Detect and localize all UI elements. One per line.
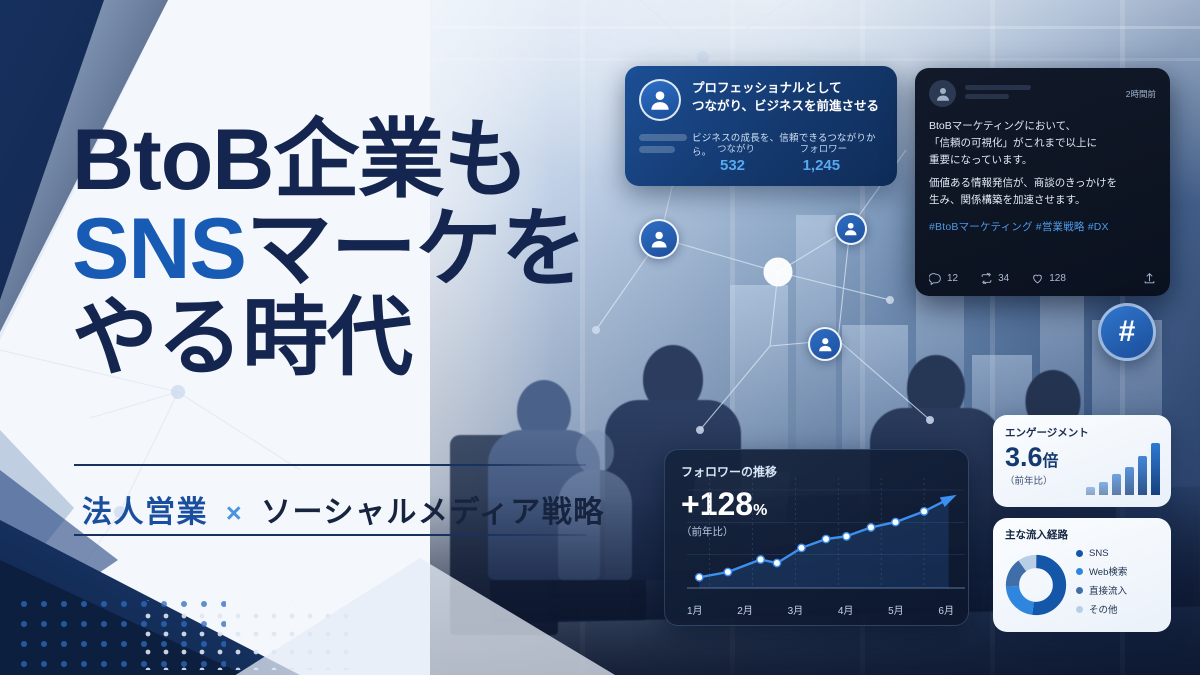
like-count: 128 [1049,273,1066,284]
headline-line-1: BtoB企業も [72,112,528,208]
comment-action[interactable]: 12 [929,272,958,285]
stat-value: 1,245 [803,157,841,174]
legend-item: Web検索 [1076,564,1127,578]
x-tick: 2月 [737,602,753,617]
ceiling-line [430,58,1200,61]
donut-chart [1005,554,1067,616]
comment-icon [929,272,942,285]
page-title: BtoB企業も SNSマーケを やる時代 [72,118,632,381]
legend-swatch [1076,550,1083,557]
share-action[interactable] [1143,272,1156,285]
post-body-paragraph-1: BtoBマーケティングにおいて、 「信頼の可視化」がこれまで以上に 重要になって… [929,118,1156,169]
legend-label: 直接流入 [1089,583,1127,597]
x-tick: 6月 [938,602,954,617]
legend-swatch [1076,587,1083,594]
stat-label: つながり [717,144,755,155]
heart-icon [1031,272,1044,285]
bar-chart [1086,437,1160,495]
bar [1138,456,1147,495]
hashtag-glyph: # [1119,317,1136,347]
donut-legend: SNSWeb検索直接流入その他 [1076,548,1127,621]
card-headline-line-2: つながり、ビジネスを前進させる [692,97,879,115]
like-action[interactable]: 128 [1031,272,1066,285]
subtitle-right: ソーシャルメディア戦略 [261,496,605,529]
stat-connections: つながり532 [717,139,780,175]
x-axis-labels: 1月2月3月4月5月6月 [687,602,954,617]
post-hashtags[interactable]: #BtoBマーケティング #営業戦略 #DX [929,219,1156,234]
legend-label: その他 [1089,602,1118,616]
headline-line-2: マーケを [246,201,586,297]
card-headline-line-1: プロフェッショナルとして [692,79,879,97]
repost-action[interactable]: 34 [980,272,1009,285]
headline-line-3: やる時代 [72,290,412,386]
share-icon [1143,272,1156,285]
ceiling-line [430,26,1200,29]
professional-network-card[interactable]: プロフェッショナルとして つながり、ビジネスを前進させる ビジネスの成長を、信頼… [625,66,897,186]
social-post-card[interactable]: 2時間前 BtoBマーケティングにおいて、 「信頼の可視化」がこれまで以上に 重… [915,68,1170,296]
legend-label: Web検索 [1089,564,1127,578]
stat-value: 532 [720,157,745,174]
legend-swatch [1076,606,1083,613]
post-timestamp: 2時間前 [1126,88,1156,100]
subtitle: 法人営業 × ソーシャルメディア戦略 [82,487,622,531]
hashtag-icon: # [1098,303,1156,361]
metric-value: 3.6 [1005,442,1043,472]
donut-title: 主な流入経路 [1005,527,1159,542]
legend-item: SNS [1076,548,1127,559]
placeholder-bars [965,85,1031,103]
legend-item: 直接流入 [1076,583,1127,597]
follower-growth-chart-card[interactable]: フォロワーの推移 +128% （前年比） 1月2月3月4月5月6月 [664,449,969,626]
legend-swatch [1076,568,1083,575]
bar [1125,467,1134,495]
repost-icon [980,272,993,285]
network-avatar-node [835,213,867,245]
stat-label: フォロワー [800,144,848,155]
x-tick: 1月 [687,602,703,617]
legend-item: その他 [1076,602,1127,616]
bar [1086,487,1095,495]
network-avatar-node [639,219,679,259]
divider-top [74,464,586,466]
slide-canvas: BtoB企業も SNSマーケを やる時代 法人営業 × ソーシャルメディア戦略 … [0,0,1200,675]
legend-label: SNS [1089,548,1109,559]
subtitle-separator: × [218,498,251,528]
line-plot [673,460,973,612]
bar [1099,482,1108,495]
x-tick: 3月 [788,602,804,617]
comment-count: 12 [947,273,958,284]
placeholder-bars [639,134,687,158]
divider-bottom [74,534,586,536]
avatar [929,80,956,107]
subtitle-left: 法人営業 [82,496,208,529]
stat-followers: フォロワー1,245 [800,139,883,175]
bar [1151,443,1160,495]
headline-sns: SNS [72,201,246,297]
metric-unit: 倍 [1043,453,1059,470]
x-tick: 5月 [888,602,904,617]
avatar [639,79,681,121]
traffic-sources-card[interactable]: 主な流入経路 SNSWeb検索直接流入その他 [993,518,1171,632]
engagement-metric-card[interactable]: エンゲージメント 3.6倍 （前年比） [993,415,1171,507]
card-stats: つながり532 フォロワー1,245 [717,139,883,175]
x-tick: 4月 [838,602,854,617]
bar [1112,474,1121,495]
post-body-paragraph-2: 価値ある情報発信が、商談のきっかけを 生み、関係構築を加速させます。 [929,175,1156,209]
repost-count: 34 [998,273,1009,284]
network-avatar-node [808,327,842,361]
